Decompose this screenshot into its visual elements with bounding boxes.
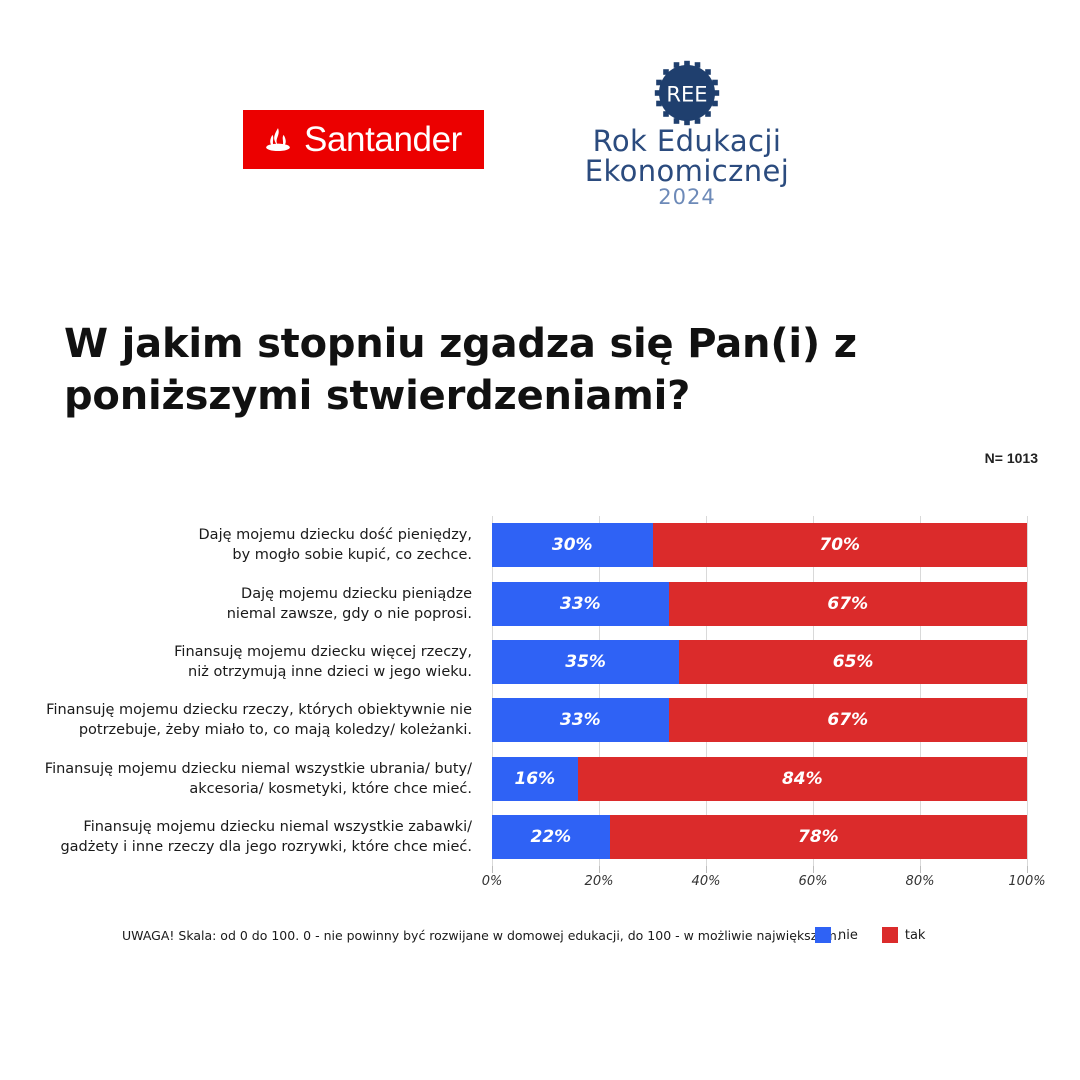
x-axis-tick-label: 60% bbox=[799, 874, 828, 889]
category-label: Daję mojemu dziecku dość pieniędzy,by mo… bbox=[0, 523, 472, 567]
gridline bbox=[1027, 516, 1028, 866]
bar-row[interactable]: 22%78% bbox=[492, 815, 1027, 859]
bar-segment-nie[interactable]: 22% bbox=[492, 815, 610, 859]
ree-badge-icon: REE bbox=[652, 58, 722, 128]
category-label: Finansuję mojemu dziecku więcej rzeczy,n… bbox=[0, 640, 472, 684]
sample-size-label: N= 1013 bbox=[985, 450, 1038, 466]
x-axis-tick-label: 0% bbox=[482, 874, 503, 889]
category-label-line: Finansuję mojemu dziecku rzeczy, których… bbox=[46, 700, 472, 720]
chart-legend: nietak bbox=[815, 927, 939, 943]
x-axis-tick-label: 80% bbox=[906, 874, 935, 889]
category-label-line: Finansuję mojemu dziecku niemal wszystki… bbox=[45, 759, 472, 779]
legend-swatch bbox=[882, 927, 898, 943]
scale-footnote: UWAGA! Skala: od 0 do 100. 0 - nie powin… bbox=[122, 928, 841, 943]
svg-text:REE: REE bbox=[666, 82, 707, 106]
bar-row[interactable]: 35%65% bbox=[492, 640, 1027, 684]
bar-segment-nie[interactable]: 33% bbox=[492, 582, 669, 626]
ree-tagline: Rok Edukacji Ekonomicznej bbox=[527, 126, 847, 186]
legend-swatch bbox=[815, 927, 831, 943]
category-label-line: akcesoria/ kosmetyki, które chce mieć. bbox=[189, 779, 472, 799]
category-label: Daję mojemu dziecku pieniądzeniemal zaws… bbox=[0, 582, 472, 626]
category-label: Finansuję mojemu dziecku niemal wszystki… bbox=[0, 757, 472, 801]
ree-logo: REE Rok Edukacji Ekonomicznej 2024 bbox=[527, 58, 847, 178]
category-labels: Daję mojemu dziecku dość pieniędzy,by mo… bbox=[0, 516, 482, 866]
bar-segment-tak[interactable]: 67% bbox=[669, 698, 1027, 742]
category-label-line: Finansuję mojemu dziecku więcej rzeczy, bbox=[174, 642, 472, 662]
bar-segment-tak[interactable]: 70% bbox=[653, 523, 1028, 567]
category-label-line: niemal zawsze, gdy o nie poprosi. bbox=[227, 604, 472, 624]
category-label-line: Daję mojemu dziecku pieniądze bbox=[241, 584, 472, 604]
axis-tick-mark bbox=[492, 866, 493, 873]
header-logos: Santander REE Rok Edukacji Ekonomicznej bbox=[0, 0, 1080, 200]
ree-year: 2024 bbox=[527, 186, 847, 208]
bar-segment-tak[interactable]: 84% bbox=[578, 757, 1027, 801]
category-label-line: potrzebuje, żeby miało to, co mają koled… bbox=[79, 720, 472, 740]
page-title: W jakim stopniu zgadza się Pan(i) z poni… bbox=[64, 318, 944, 422]
category-label: Finansuję mojemu dziecku niemal wszystki… bbox=[0, 815, 472, 859]
category-label: Finansuję mojemu dziecku rzeczy, których… bbox=[0, 698, 472, 742]
bar-row[interactable]: 30%70% bbox=[492, 523, 1027, 567]
legend-label: tak bbox=[905, 928, 926, 943]
stacked-bar-chart: Daję mojemu dziecku dość pieniędzy,by mo… bbox=[0, 500, 1080, 900]
santander-flame-icon bbox=[261, 127, 295, 153]
category-label-line: Daję mojemu dziecku dość pieniędzy, bbox=[199, 525, 472, 545]
bar-segment-nie[interactable]: 30% bbox=[492, 523, 653, 567]
x-axis-tick-label: 100% bbox=[1008, 874, 1045, 889]
axis-tick-mark bbox=[599, 866, 600, 873]
bar-segment-tak[interactable]: 78% bbox=[610, 815, 1027, 859]
axis-tick-mark bbox=[813, 866, 814, 873]
bar-segment-tak[interactable]: 67% bbox=[669, 582, 1027, 626]
x-axis-tick-label: 40% bbox=[692, 874, 721, 889]
plot-area: 30%70%33%67%35%65%33%67%16%84%22%78% bbox=[492, 516, 1027, 866]
x-axis-tick-label: 20% bbox=[585, 874, 614, 889]
bar-segment-tak[interactable]: 65% bbox=[679, 640, 1027, 684]
bar-rows: 30%70%33%67%35%65%33%67%16%84%22%78% bbox=[492, 516, 1027, 866]
axis-tick-mark bbox=[706, 866, 707, 873]
axis-tick-mark bbox=[1027, 866, 1028, 873]
bar-row[interactable]: 33%67% bbox=[492, 698, 1027, 742]
category-label-line: niż otrzymują inne dzieci w jego wieku. bbox=[188, 662, 472, 682]
category-label-line: Finansuję mojemu dziecku niemal wszystki… bbox=[83, 817, 472, 837]
santander-wordmark: Santander bbox=[304, 120, 462, 160]
category-label-line: gadżety i inne rzeczy dla jego rozrywki,… bbox=[60, 837, 472, 857]
x-axis-tick-labels: 0%20%40%60%80%100% bbox=[492, 874, 1027, 896]
legend-item-tak[interactable]: tak bbox=[882, 927, 926, 943]
bar-segment-nie[interactable]: 33% bbox=[492, 698, 669, 742]
bar-segment-nie[interactable]: 35% bbox=[492, 640, 679, 684]
bar-segment-nie[interactable]: 16% bbox=[492, 757, 578, 801]
legend-item-nie[interactable]: nie bbox=[815, 927, 858, 943]
category-label-line: by mogło sobie kupić, co zechce. bbox=[232, 545, 472, 565]
santander-logo: Santander bbox=[243, 110, 484, 169]
bar-row[interactable]: 33%67% bbox=[492, 582, 1027, 626]
legend-label: nie bbox=[838, 928, 858, 943]
axis-tick-mark bbox=[920, 866, 921, 873]
bar-row[interactable]: 16%84% bbox=[492, 757, 1027, 801]
